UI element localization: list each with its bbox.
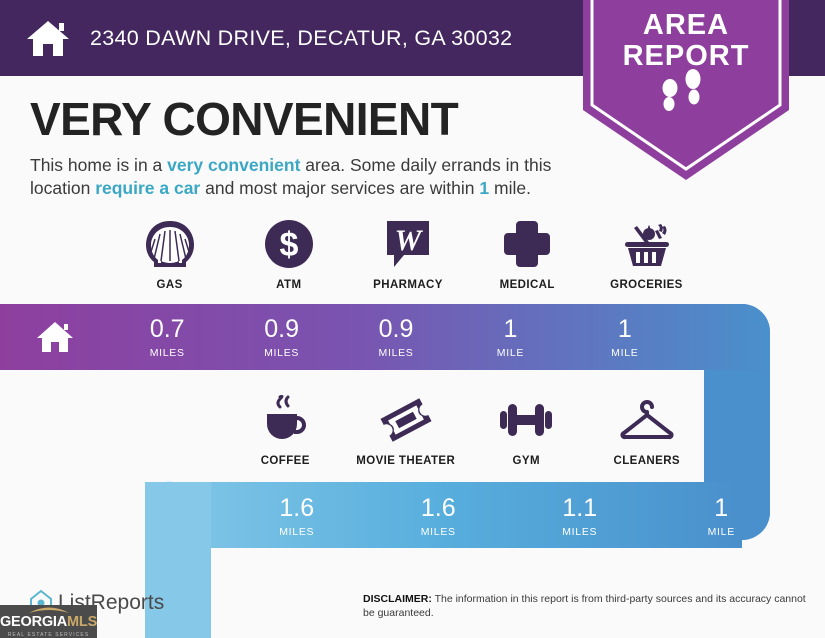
category-atm: $ ATM [229,218,348,291]
dollar-circle-icon: $ [264,218,314,270]
mls-wordmark: GEORGIAMLS [0,615,97,630]
medical-cross-icon [502,218,552,270]
category-pharmacy: W PHARMACY [348,218,467,291]
category-label: ATM [276,279,301,291]
category-label: PHARMACY [373,279,443,291]
georgia-mls-badge: GEORGIAMLS REAL ESTATE SERVICES [0,605,97,638]
category-label: MOVIE THEATER [356,455,455,467]
highlight-require-a-car: require a car [95,178,200,198]
distance-unit: MILES [379,347,414,359]
distance-unit: MILES [279,526,314,538]
svg-text:W: W [395,224,424,257]
distance-value: 1.6 [421,496,456,521]
coffee-cup-icon [260,394,310,446]
distance-unit: MILES [562,526,597,538]
distance-unit: MILES [264,347,299,359]
distance-value: 0.9 [379,317,414,342]
category-row-top: GAS $ ATM W PHARMACY [110,218,706,291]
distance-unit: MILES [421,526,456,538]
sentence-part-3: and most major services are within [200,178,479,198]
disclaimer: DISCLAIMER: The information in this repo… [363,592,813,620]
distance-value: 1 [714,496,728,521]
sentence-part-1: This home is in a [30,155,167,175]
category-label: CLEANERS [614,455,680,467]
mls-primary: GEORGIA [0,614,67,630]
distance-value: 1.1 [562,496,597,521]
banner-line-2: REPORT [623,40,750,72]
area-report-banner: AREA REPORT [583,0,789,180]
home-icon [26,18,70,58]
category-gas: GAS [110,218,229,291]
distance-row-bottom: 1.6 MILES 1.6 MILES 1.1 MILES 1 MILE [226,485,792,549]
category-groceries: GROCERIES [587,218,706,291]
page-title: VERY CONVENIENT [30,95,590,143]
distance-value: 0.7 [150,317,185,342]
category-gym: GYM [466,394,587,467]
distance-cell: 1 MILE [453,306,567,370]
distance-cell: 1 MILE [651,485,793,549]
shopping-basket-icon [618,218,674,270]
property-address: 2340 DAWN DRIVE, DECATUR, GA 30032 [90,26,512,51]
svg-text:$: $ [279,226,298,264]
highlight-distance: 1 [479,178,489,198]
distance-value: 0.9 [264,317,299,342]
category-label: MEDICAL [500,279,555,291]
headline-block: VERY CONVENIENT This home is in a very c… [30,95,590,200]
shell-gas-icon [144,218,196,270]
mls-secondary: MLS [67,614,97,630]
category-coffee: COFFEE [225,394,346,467]
banner-line-1: AREA [643,9,729,41]
dumbbell-icon [498,394,554,446]
category-label: COFFEE [261,455,310,467]
distance-row-top: 0.7 MILES 0.9 MILES 0.9 MILES 1 MILE 1 M… [110,306,682,370]
distance-cell: 1 MILE [568,306,682,370]
area-report-page: 2340 DAWN DRIVE, DECATUR, GA 30032 AREA … [0,0,825,638]
distance-unit: MILE [708,526,735,538]
highlight-very-convenient: very convenient [167,155,300,175]
distance-unit: MILE [497,347,524,359]
distance-unit: MILES [150,347,185,359]
distance-cell: 0.9 MILES [224,306,338,370]
distance-cell: 1.6 MILES [368,485,510,549]
distance-cell: 0.7 MILES [110,306,224,370]
clothes-hanger-icon [618,394,676,446]
category-label: GROCERIES [610,279,683,291]
category-medical: MEDICAL [468,218,587,291]
category-label: GYM [513,455,540,467]
category-row-bottom: COFFEE MOVIE THEATER [225,394,707,467]
sentence-part-4: mile. [489,178,531,198]
distance-cell: 1.1 MILES [509,485,651,549]
distance-cell: 0.9 MILES [339,306,453,370]
ribbon-home-icon [36,320,74,354]
movie-ticket-icon [379,394,433,446]
disclaimer-label: DISCLAIMER: [363,593,432,605]
distance-value: 1 [503,317,517,342]
category-cleaners: CLEANERS [587,394,708,467]
mls-subtitle: REAL ESTATE SERVICES [8,632,90,638]
distance-unit: MILE [611,347,638,359]
category-label: GAS [157,279,183,291]
distance-cell: 1.6 MILES [226,485,368,549]
distance-value: 1 [618,317,632,342]
walgreens-w-icon: W [385,218,431,270]
category-movie-theater: MOVIE THEATER [346,394,467,467]
distance-value: 1.6 [279,496,314,521]
summary-sentence: This home is in a very convenient area. … [30,154,590,200]
